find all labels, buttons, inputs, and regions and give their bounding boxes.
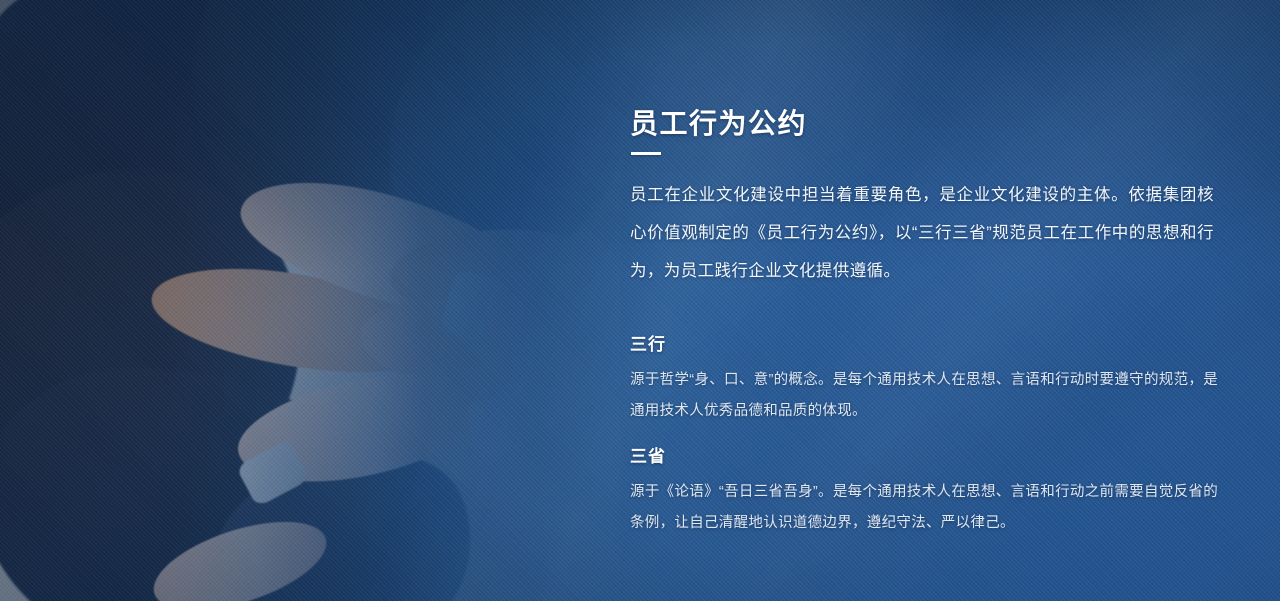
section-body: 源于《论语》“吾日三省吾身”。是每个通用技术人在思想、言语和行动之前需要自觉反省… <box>630 477 1218 539</box>
page-title: 员工行为公约 <box>630 104 807 144</box>
section-sanxing: 三行 源于哲学“身、口、意”的概念。是每个通用技术人在思想、言语和行动时要遵守的… <box>630 332 1218 427</box>
section-sansheng: 三省 源于《论语》“吾日三省吾身”。是每个通用技术人在思想、言语和行动之前需要自… <box>630 444 1218 539</box>
intro-paragraph: 员工在企业文化建设中担当着重要角色，是企业文化建设的主体。依据集团核心价值观制定… <box>630 176 1214 290</box>
title-underline-accent <box>631 152 661 155</box>
section-title: 三省 <box>630 444 1218 470</box>
section-title: 三行 <box>630 332 1218 358</box>
content-panel: 员工行为公约 员工在企业文化建设中担当着重要角色，是企业文化建设的主体。依据集团… <box>630 0 1220 601</box>
hero-banner: 员工行为公约 员工在企业文化建设中担当着重要角色，是企业文化建设的主体。依据集团… <box>0 0 1280 601</box>
section-body: 源于哲学“身、口、意”的概念。是每个通用技术人在思想、言语和行动时要遵守的规范，… <box>630 365 1218 427</box>
